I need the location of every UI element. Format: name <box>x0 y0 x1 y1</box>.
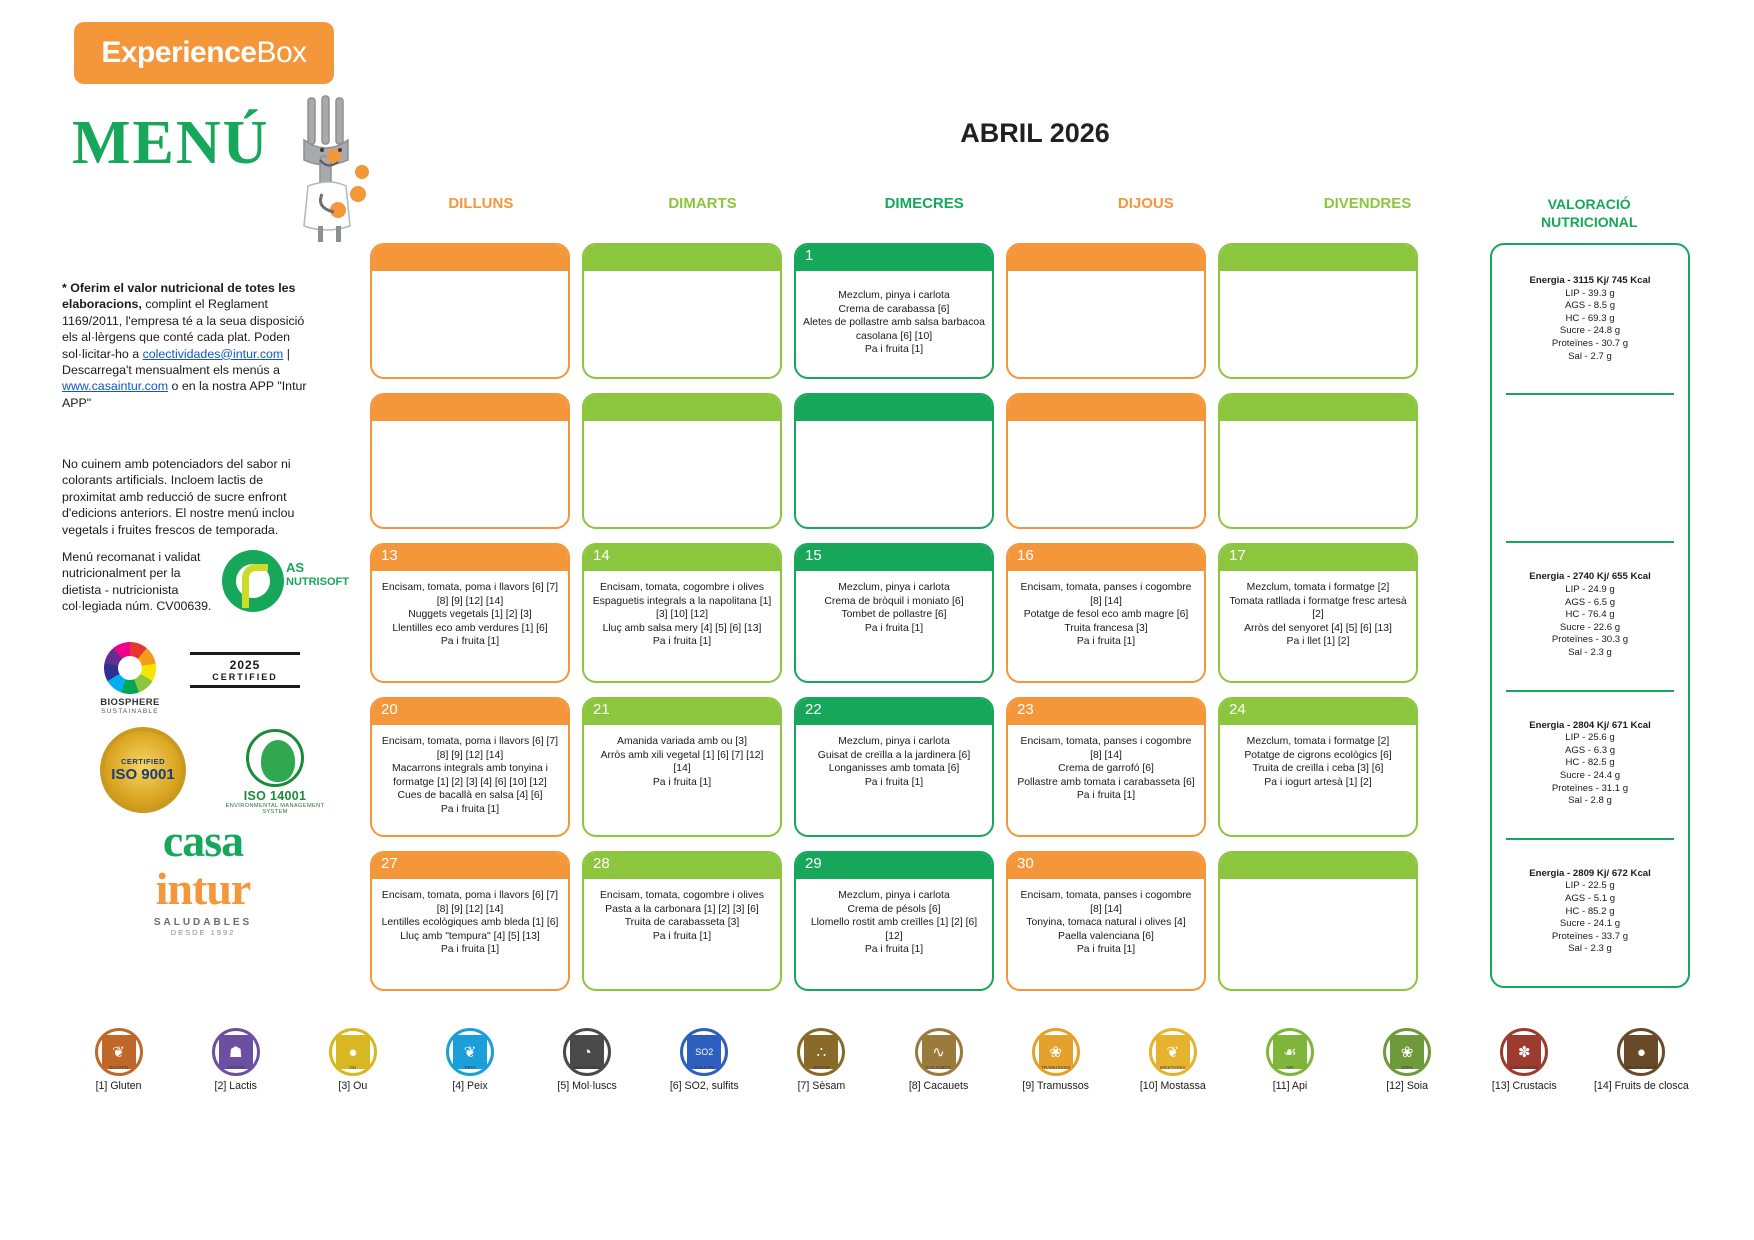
nutrisoft-hook-shape <box>242 564 268 608</box>
menu-items <box>584 421 780 449</box>
menu-items: Encisam, tomata, poma i llavors [6] [7] … <box>372 571 568 659</box>
calendar-day-empty[interactable] <box>582 243 782 379</box>
menu-item-line: Mezclum, tomata i formatge [2] <box>1227 581 1409 595</box>
calendar-week-row: 1Mezclum, pinya i carlotaCrema de caraba… <box>370 243 1470 379</box>
nutrition-line: AGS - 8.5 g <box>1565 300 1615 313</box>
day-header-bar <box>1220 245 1416 271</box>
dairy-icon-glyph: ☗ <box>219 1035 253 1069</box>
menu-items: Encisam, tomata, cogombre i olivesPasta … <box>584 879 780 953</box>
fish-icon-glyph: ❦ <box>453 1035 487 1069</box>
iso14001-globe-icon <box>246 729 304 787</box>
iso-14001-logo: ISO 14001 ENVIRONMENTAL MANAGEMENT SYSTE… <box>220 729 330 815</box>
menu-item-line: Pasta a la carbonara [1] [2] [3] [6] <box>591 903 773 917</box>
menu-item-line: Mezclum, tomata i formatge [2] <box>1227 735 1409 749</box>
casaintur-logo: casa intur SALUDABLES DESDE 1992 <box>78 817 328 937</box>
certified-2025-badge: 2025 CERTIFIED <box>190 652 300 688</box>
menu-item-line: Cues de bacallà en salsa [4] [6] <box>379 789 561 803</box>
weekday-dimecres: DIMECRES <box>813 195 1035 231</box>
day-header-bar <box>1008 699 1204 725</box>
menu-item-line: Encisam, tomata, cogombre i olives <box>591 889 773 903</box>
sulphites-icon: SO2SULFITS <box>680 1028 728 1076</box>
calendar-day-empty[interactable] <box>370 243 570 379</box>
weekday-dimarts: DIMARTS <box>592 195 814 231</box>
calendar-day-empty[interactable] <box>1006 393 1206 529</box>
menu-items <box>1220 879 1416 899</box>
allergen-legend-item: ◔MOL-LUSCS[5] Mol·luscs <box>529 1028 646 1092</box>
menu-items <box>796 421 992 449</box>
soy-icon-glyph: ❀ <box>1390 1035 1424 1069</box>
menu-item-line: Espaguetis integrals a la napolitana [1]… <box>591 595 773 622</box>
weekday-dilluns: DILLUNS <box>370 195 592 231</box>
menu-item-line: Pa i fruita [1] <box>379 803 561 817</box>
allergen-legend-item: ●OU[3] Ou <box>294 1028 411 1092</box>
nutrition-column-header: VALORACIÓ NUTRICIONAL <box>1478 195 1700 231</box>
menu-item-line: Llentilles eco amb verdures [1] [6] <box>379 622 561 636</box>
menu-items: Encisam, tomata, panses i cogombre [8] [… <box>1008 571 1204 659</box>
menu-item-line: Pa i fruita [1] <box>591 930 773 944</box>
allergen-label: [13] Crustacis <box>1466 1080 1583 1092</box>
calendar-week-row: 13Encisam, tomata, poma i llavors [6] [7… <box>370 543 1470 683</box>
dietitian-note: Menú recomanat i validat nutricionalment… <box>62 549 212 615</box>
allergen-label: [9] Tramussos <box>997 1080 1114 1092</box>
menu-heading-row: MENÚ <box>60 90 360 210</box>
nutrisoft-as-text: AS <box>286 560 304 575</box>
menu-item-line: Paella valenciana [6] <box>1015 930 1197 944</box>
calendar-day-empty[interactable] <box>1006 243 1206 379</box>
day-number: 24 <box>1229 701 1246 718</box>
day-header-bar <box>372 853 568 879</box>
weekday-divendres: DIVENDRES <box>1257 195 1479 231</box>
biosphere-wheel-icon <box>104 642 156 694</box>
day-number: 29 <box>805 855 822 872</box>
nutrition-line: HC - 69.3 g <box>1565 313 1614 326</box>
day-header-bar <box>796 699 992 725</box>
day-header-bar <box>1220 545 1416 571</box>
menu-item-line: Encisam, tomata, panses i cogombre [8] [… <box>1015 581 1197 608</box>
menu-item-line: Mezclum, pinya i carlota <box>803 581 985 595</box>
email-link[interactable]: colectividades@intur.com <box>143 347 284 361</box>
experiencebox-logo: ExperienceBox <box>74 22 334 84</box>
nutrition-block: Energia - 2740 Kj/ 655 KcalLIP - 24.9 gA… <box>1492 541 1688 689</box>
gluten-icon-glyph: ❦ <box>102 1035 136 1069</box>
calendar-day-24[interactable]: 24Mezclum, tomata i formatge [2]Potatge … <box>1218 697 1418 837</box>
menu-item-line: Pa i fruita [1] <box>803 943 985 957</box>
day-number: 23 <box>1017 701 1034 718</box>
allergen-icon-caption: SULFITS <box>683 1065 725 1070</box>
sesame-icon-glyph: ∴ <box>804 1035 838 1069</box>
brand-experience-text: Experience <box>101 36 256 70</box>
menu-item-line: Macarrons integrals amb tonyina i format… <box>379 762 561 789</box>
celery-icon-glyph: ☙ <box>1273 1035 1307 1069</box>
calendar-day-20[interactable]: 20Encisam, tomata, poma i llavors [6] [7… <box>370 697 570 837</box>
menu-item-line: Pa i llet [1] [2] <box>1227 635 1409 649</box>
certifications-row-2: CERTIFIED ISO 9001 ISO 14001 ENVIRONMENT… <box>60 727 340 822</box>
allergen-icon-caption: MOSTASSA <box>1152 1065 1194 1070</box>
calendar-week-row: 27Encisam, tomata, poma i llavors [6] [7… <box>370 851 1470 991</box>
allergen-legend-item: ❀TRAMUSSOS[9] Tramussos <box>997 1028 1114 1092</box>
iso14001-label: ISO 14001 <box>220 789 330 803</box>
menu-items: Mezclum, pinya i carlotaGuisat de creïll… <box>796 725 992 799</box>
menu-item-line: Pa i fruita [1] <box>803 776 985 790</box>
page-title: ABRIL 2026 <box>370 118 1700 149</box>
day-header-bar <box>1008 853 1204 879</box>
day-number: 13 <box>381 547 398 564</box>
menu-item-line: Crema de pésols [6] <box>803 903 985 917</box>
mollusc-icon: ◔MOL-LUSCS <box>563 1028 611 1076</box>
menu-items: Encisam, tomata, poma i llavors [6] [7] … <box>372 725 568 827</box>
nutrition-block: Energia - 3115 Kj/ 745 KcalLIP - 39.3 gA… <box>1492 245 1688 393</box>
menu-item-line: Pa i fruita [1] <box>803 622 985 636</box>
allergen-label: [3] Ou <box>294 1080 411 1092</box>
menu-item-line: Potatge de fesol eco amb magre [6] <box>1015 608 1197 622</box>
calendar-day-23[interactable]: 23Encisam, tomata, panses i cogombre [8]… <box>1006 697 1206 837</box>
calendar-day-15[interactable]: 15Mezclum, pinya i carlotaCrema de bròqu… <box>794 543 994 683</box>
calendar-title-wrap: ABRIL 2026 <box>370 118 1700 149</box>
menu-items: Encisam, tomata, panses i cogombre [8] [… <box>1008 725 1204 813</box>
day-header-bar <box>584 245 780 271</box>
day-header-bar <box>796 245 992 271</box>
allergen-label: [2] Lactis <box>177 1080 294 1092</box>
nutrition-line: Energia - 2809 Kj/ 672 Kcal <box>1529 868 1651 881</box>
menu-item-line: Crema de bròquil i moniato [6] <box>803 595 985 609</box>
biosphere-sub: SUSTAINABLE <box>82 708 178 715</box>
nutrition-line: Sucre - 24.1 g <box>1560 918 1620 931</box>
menu-item-line: Encisam, tomata, poma i llavors [6] [7] … <box>379 735 561 762</box>
menu-item-line: Lluç amb salsa mery [4] [5] [6] [13] <box>591 622 773 636</box>
menu-items: Mezclum, pinya i carlotaCrema de bròquil… <box>796 571 992 645</box>
casaintur-casa-text: casa <box>78 817 328 865</box>
nutrition-block: Energia - 2809 Kj/ 672 KcalLIP - 22.5 gA… <box>1492 838 1688 986</box>
menu-item-line: Tomata ratllada i formatge fresc artesà … <box>1227 595 1409 622</box>
biosphere-logo: BIOSPHERE SUSTAINABLE <box>82 642 178 715</box>
calendar-day-16[interactable]: 16Encisam, tomata, panses i cogombre [8]… <box>1006 543 1206 683</box>
calendar-grid: 1Mezclum, pinya i carlotaCrema de caraba… <box>370 243 1470 1005</box>
calendar-day-27[interactable]: 27Encisam, tomata, poma i llavors [6] [7… <box>370 851 570 991</box>
nutrition-line: Sal - 2.3 g <box>1568 647 1612 660</box>
nutrition-line: LIP - 25.6 g <box>1565 732 1614 745</box>
allergen-icon-caption: FRUITS SECS <box>1620 1065 1662 1070</box>
nutrition-header-line2: NUTRICIONAL <box>1478 213 1700 231</box>
menu-items <box>1220 271 1416 299</box>
menu-item-line: Pa i fruita [1] <box>1015 789 1197 803</box>
nutrition-line: Energia - 3115 Kj/ 745 Kcal <box>1529 275 1650 288</box>
nutrition-line: Sal - 2.3 g <box>1568 943 1612 956</box>
menu-item-line: Pa i fruita [1] <box>591 776 773 790</box>
allergen-label: [5] Mol·luscs <box>529 1080 646 1092</box>
celery-icon: ☙API <box>1266 1028 1314 1076</box>
crustacean-icon: ✽CRUSTACIS <box>1500 1028 1548 1076</box>
nutrition-line: Energia - 2804 Kj/ 671 Kcal <box>1529 720 1651 733</box>
nuts-icon-glyph: ● <box>1624 1035 1658 1069</box>
casaintur-intur-text: intur <box>78 865 328 913</box>
day-header-bar <box>796 395 992 421</box>
nutrition-line: AGS - 6.3 g <box>1565 745 1615 758</box>
nuts-icon: ●FRUITS SECS <box>1617 1028 1665 1076</box>
mollusc-icon-glyph: ◔ <box>570 1035 604 1069</box>
brand-box-text: Box <box>256 36 306 70</box>
day-number: 17 <box>1229 547 1246 564</box>
allergen-legend-item: SO2SULFITS[6] SO2, sulfits <box>646 1028 763 1092</box>
day-header-bar <box>584 699 780 725</box>
menu-items <box>372 271 568 299</box>
day-header-bar <box>372 699 568 725</box>
day-header-bar <box>1008 395 1204 421</box>
allergen-label: [10] Mostassa <box>1114 1080 1231 1092</box>
menu-items <box>1008 271 1204 299</box>
mustard-icon-glyph: ❦ <box>1156 1035 1190 1069</box>
menu-item-line: Pollastre amb tomata i carabasseta [6] <box>1015 776 1197 790</box>
weekday-header-row: DILLUNS DIMARTS DIMECRES DIJOUS DIVENDRE… <box>370 195 1700 231</box>
menu-item-line: Pa i fruita [1] <box>379 635 561 649</box>
peanut-icon: ∿CACAUETS <box>915 1028 963 1076</box>
iso14001-sub: ENVIRONMENTAL MANAGEMENT SYSTEM <box>220 803 330 815</box>
day-header-bar <box>584 545 780 571</box>
menu-items <box>1008 421 1204 449</box>
nutrition-line: Proteïnes - 33.7 g <box>1552 931 1628 944</box>
day-number: 1 <box>805 247 813 264</box>
iso9001-label: ISO 9001 <box>111 766 174 783</box>
allergen-legend-item: ❦GLUTEN[1] Gluten <box>60 1028 177 1092</box>
menu-items: Encisam, tomata, cogombre i olivesEspagu… <box>584 571 780 659</box>
allergen-label: [6] SO2, sulfits <box>646 1080 763 1092</box>
calendar-day-empty[interactable] <box>1218 851 1418 991</box>
allergen-legend-item: ❦MOSTASSA[10] Mostassa <box>1114 1028 1231 1092</box>
menu-item-line: Mezclum, pinya i carlota <box>803 735 985 749</box>
day-header-bar <box>372 395 568 421</box>
sesame-icon: ∴SESAM <box>797 1028 845 1076</box>
calendar-day-empty[interactable] <box>370 393 570 529</box>
day-number: 21 <box>593 701 610 718</box>
nutrition-line: Sal - 2.8 g <box>1568 795 1612 808</box>
allergen-legend-item: ∿CACAUETS[8] Cacauets <box>880 1028 997 1092</box>
menu-items <box>1220 421 1416 449</box>
nutrition-line: Energia - 2740 Kj/ 655 Kcal <box>1529 571 1651 584</box>
menu-item-line: Aletes de pollastre amb salsa barbacoa c… <box>803 316 985 343</box>
nutrition-line: Sucre - 24.4 g <box>1560 770 1620 783</box>
menu-item-line: Crema de garrofó [6] <box>1015 762 1197 776</box>
menu-items: Amanida variada amb ou [3]Arròs amb xili… <box>584 725 780 799</box>
menu-item-line: Encisam, tomata, poma i llavors [6] [7] … <box>379 581 561 608</box>
menu-item-line: Pa i fruita [1] <box>591 635 773 649</box>
nutrition-line: Proteïnes - 30.3 g <box>1552 634 1628 647</box>
calendar-day-29[interactable]: 29Mezclum, pinya i carlotaCrema de pésol… <box>794 851 994 991</box>
menu-item-line: Pa i fruita [1] <box>1015 943 1197 957</box>
allergen-legend-item: ∴SESAM[7] Sèsam <box>763 1028 880 1092</box>
menu-item-line: Encisam, tomata, poma i llavors [6] [7] … <box>379 889 561 916</box>
menu-word: MENÚ <box>72 108 269 179</box>
nutrition-line: HC - 85.2 g <box>1565 906 1614 919</box>
allergen-icon-caption: SESAM <box>800 1065 842 1070</box>
egg-icon: ●OU <box>329 1028 377 1076</box>
allergen-legend: ❦GLUTEN[1] Gluten☗LACTIS[2] Lactis●OU[3]… <box>60 1028 1700 1092</box>
menu-items: Encisam, tomata, panses i cogombre [8] [… <box>1008 879 1204 967</box>
iso-9001-seal: CERTIFIED ISO 9001 <box>100 727 186 813</box>
soy-icon: ❀SOIA <box>1383 1028 1431 1076</box>
menu-item-line: Lluç amb "tempura" [4] [5] [13] <box>379 930 561 944</box>
nutrition-line: HC - 82.5 g <box>1565 757 1614 770</box>
allergen-icon-caption: MOL-LUSCS <box>566 1065 608 1070</box>
nutrition-block: Energia - 2804 Kj/ 671 KcalLIP - 25.6 gA… <box>1492 690 1688 838</box>
menu-item-line: Tombet de pollastre [6] <box>803 608 985 622</box>
menu-item-line: Truita de creïlla i ceba [3] [6] <box>1227 762 1409 776</box>
menu-items: Mezclum, tomata i formatge [2]Tomata rat… <box>1220 571 1416 659</box>
allergen-label: [1] Gluten <box>60 1080 177 1092</box>
menu-item-line: Tonyina, tomaca natural i olives [4] <box>1015 916 1197 930</box>
allergen-icon-caption: CRUSTACIS <box>1503 1065 1545 1070</box>
menu-items: Mezclum, tomata i formatge [2]Potatge de… <box>1220 725 1416 799</box>
calendar-day-22[interactable]: 22Mezclum, pinya i carlotaGuisat de creï… <box>794 697 994 837</box>
egg-icon-glyph: ● <box>336 1035 370 1069</box>
menu-item-line: Pa i fruita [1] <box>1015 635 1197 649</box>
nutrition-header-line1: VALORACIÓ <box>1478 195 1700 213</box>
casaintur-tagline: SALUDABLES <box>78 917 328 928</box>
allergen-legend-item: ●FRUITS SECS[14] Fruits de closca <box>1583 1028 1700 1092</box>
menu-item-line: Potatge de cigrons ecològics [6] <box>1227 749 1409 763</box>
menu-item-line: Longanisses amb tomata [6] <box>803 762 985 776</box>
menu-items: Encisam, tomata, poma i llavors [6] [7] … <box>372 879 568 967</box>
calendar-day-1[interactable]: 1Mezclum, pinya i carlotaCrema de caraba… <box>794 243 994 379</box>
day-header-bar <box>1220 853 1416 879</box>
allergen-label: [11] Api <box>1231 1080 1348 1092</box>
menu-item-line: Guisat de creïlla a la jardinera [6] <box>803 749 985 763</box>
calendar-week-row <box>370 393 1470 529</box>
menu-item-line: Crema de carabassa [6] <box>803 303 985 317</box>
crustacean-icon-glyph: ✽ <box>1507 1035 1541 1069</box>
certified-year: 2025 <box>190 658 300 672</box>
nutrition-line: Sal - 2.7 g <box>1568 351 1612 364</box>
menu-items: Mezclum, pinya i carlotaCrema de carabas… <box>796 271 992 367</box>
menu-item-line: Mezclum, pinya i carlota <box>803 289 985 303</box>
allergen-icon-caption: TRAMUSSOS <box>1035 1065 1077 1070</box>
iso9001-top-text: CERTIFIED <box>121 757 165 766</box>
day-header-bar <box>584 395 780 421</box>
nutrisoft-name-text: NUTRISOFT <box>286 576 349 588</box>
gluten-icon: ❦GLUTEN <box>95 1028 143 1076</box>
biosphere-name: BIOSPHERE <box>82 697 178 708</box>
allergen-label: [12] Soia <box>1349 1080 1466 1092</box>
nutrition-line: AGS - 5.1 g <box>1565 893 1615 906</box>
menu-items <box>584 271 780 299</box>
calendar-day-17[interactable]: 17Mezclum, tomata i formatge [2]Tomata r… <box>1218 543 1418 683</box>
menu-item-line: Truita de carabasseta [3] <box>591 916 773 930</box>
nutrition-line: LIP - 24.9 g <box>1565 584 1614 597</box>
casaintur-since: DESDE 1992 <box>78 928 328 937</box>
allergen-icon-caption: CACAUETS <box>918 1065 960 1070</box>
day-number: 30 <box>1017 855 1034 872</box>
calendar-week-row: 20Encisam, tomata, poma i llavors [6] [7… <box>370 697 1470 837</box>
peanut-icon-glyph: ∿ <box>922 1035 956 1069</box>
certifications-row-1: BIOSPHERE SUSTAINABLE 2025 CERTIFIED <box>60 642 330 722</box>
day-header-bar <box>796 545 992 571</box>
allergen-label: [14] Fruits de closca <box>1583 1080 1700 1092</box>
allergen-legend-item: ✽CRUSTACIS[13] Crustacis <box>1466 1028 1583 1092</box>
calendar-day-empty[interactable] <box>1218 243 1418 379</box>
nutrition-block <box>1492 393 1688 541</box>
menu-item-line: Llomello rostit amb creïlles [1] [2] [6]… <box>803 916 985 943</box>
allergen-icon-caption: API <box>1269 1065 1311 1070</box>
sidebar: ExperienceBox MENÚ * Oferim el v <box>60 22 360 1022</box>
calendar-day-30[interactable]: 30Encisam, tomata, panses i cogombre [8]… <box>1006 851 1206 991</box>
nutrition-line: Sucre - 22.6 g <box>1560 622 1620 635</box>
menu-item-line: Truita francesa [3] <box>1015 622 1197 636</box>
day-header-bar <box>372 245 568 271</box>
day-number: 22 <box>805 701 822 718</box>
menu-item-line: Encisam, tomata, panses i cogombre [8] [… <box>1015 889 1197 916</box>
menu-item-line: Pa i fruita [1] <box>803 343 985 357</box>
day-number: 15 <box>805 547 822 564</box>
day-number: 28 <box>593 855 610 872</box>
allergen-legend-item: ❀SOIA[12] Soia <box>1349 1028 1466 1092</box>
nutrition-summary-column: Energia - 3115 Kj/ 745 KcalLIP - 39.3 gA… <box>1490 243 1690 988</box>
day-header-bar <box>1220 699 1416 725</box>
menu-item-line: Amanida variada amb ou [3] <box>591 735 773 749</box>
menu-item-line: Lentilles ecològiques amb bleda [1] [6] <box>379 916 561 930</box>
certified-word: CERTIFIED <box>190 672 300 682</box>
calendar-day-13[interactable]: 13Encisam, tomata, poma i llavors [6] [7… <box>370 543 570 683</box>
allergen-icon-caption: PEIX <box>449 1065 491 1070</box>
lupin-icon: ❀TRAMUSSOS <box>1032 1028 1080 1076</box>
day-header-bar <box>372 545 568 571</box>
nutrition-line: LIP - 22.5 g <box>1565 880 1614 893</box>
day-header-bar <box>1220 395 1416 421</box>
nutrition-line: AGS - 6.5 g <box>1565 597 1615 610</box>
menu-item-line: Mezclum, pinya i carlota <box>803 889 985 903</box>
menu-item-line: Encisam, tomata, cogombre i olives <box>591 581 773 595</box>
allergen-icon-caption: OU <box>332 1065 374 1070</box>
sulphites-icon-glyph: SO2 <box>687 1035 721 1069</box>
menu-item-line: Pa i fruita [1] <box>379 943 561 957</box>
calendar-day-14[interactable]: 14Encisam, tomata, cogombre i olivesEspa… <box>582 543 782 683</box>
calendar-day-empty[interactable] <box>794 393 994 529</box>
day-header-bar <box>1008 245 1204 271</box>
no-additives-note: No cuinem amb potenciadors del sabor ni … <box>62 456 312 538</box>
day-number: 20 <box>381 701 398 718</box>
menu-item-line: Nuggets vegetals [1] [2] [3] <box>379 608 561 622</box>
dairy-icon: ☗LACTIS <box>212 1028 260 1076</box>
nutrition-line: LIP - 39.3 g <box>1565 288 1614 301</box>
menu-item-line: Arròs del senyoret [4] [5] [6] [13] <box>1227 622 1409 636</box>
allergen-icon-caption: GLUTEN <box>98 1065 140 1070</box>
menu-item-line: Arròs amb xili vegetal [1] [6] [7] [12] … <box>591 749 773 776</box>
nutrition-line: HC - 76.4 g <box>1565 609 1614 622</box>
asnutrisoft-logo: AS NUTRISOFT <box>212 550 337 635</box>
menu-items: Mezclum, pinya i carlotaCrema de pésols … <box>796 879 992 967</box>
day-header-bar <box>584 853 780 879</box>
allergen-legend-item: ☗LACTIS[2] Lactis <box>177 1028 294 1092</box>
calendar-day-21[interactable]: 21Amanida variada amb ou [3]Arròs amb xi… <box>582 697 782 837</box>
website-link[interactable]: www.casaintur.com <box>62 379 168 393</box>
allergen-icon-caption: LACTIS <box>215 1065 257 1070</box>
allergen-label: [7] Sèsam <box>763 1080 880 1092</box>
day-number: 14 <box>593 547 610 564</box>
allergen-legend-item: ❦PEIX[4] Peix <box>411 1028 528 1092</box>
menu-item-line: Pa i iogurt artesà [1] [2] <box>1227 776 1409 790</box>
weekday-dijous: DIJOUS <box>1035 195 1257 231</box>
day-number: 16 <box>1017 547 1034 564</box>
calendar-day-28[interactable]: 28Encisam, tomata, cogombre i olivesPast… <box>582 851 782 991</box>
allergen-label: [8] Cacauets <box>880 1080 997 1092</box>
nutrition-line: Proteïnes - 31.1 g <box>1552 783 1628 796</box>
allergen-icon-caption: SOIA <box>1386 1065 1428 1070</box>
mustard-icon: ❦MOSTASSA <box>1149 1028 1197 1076</box>
calendar-day-empty[interactable] <box>582 393 782 529</box>
fish-icon: ❦PEIX <box>446 1028 494 1076</box>
menu-items <box>372 421 568 449</box>
legal-disclaimer: * Oferim el valor nutricional de totes l… <box>62 280 312 411</box>
allergen-label: [4] Peix <box>411 1080 528 1092</box>
calendar-day-empty[interactable] <box>1218 393 1418 529</box>
menu-item-line: Encisam, tomata, panses i cogombre [8] [… <box>1015 735 1197 762</box>
